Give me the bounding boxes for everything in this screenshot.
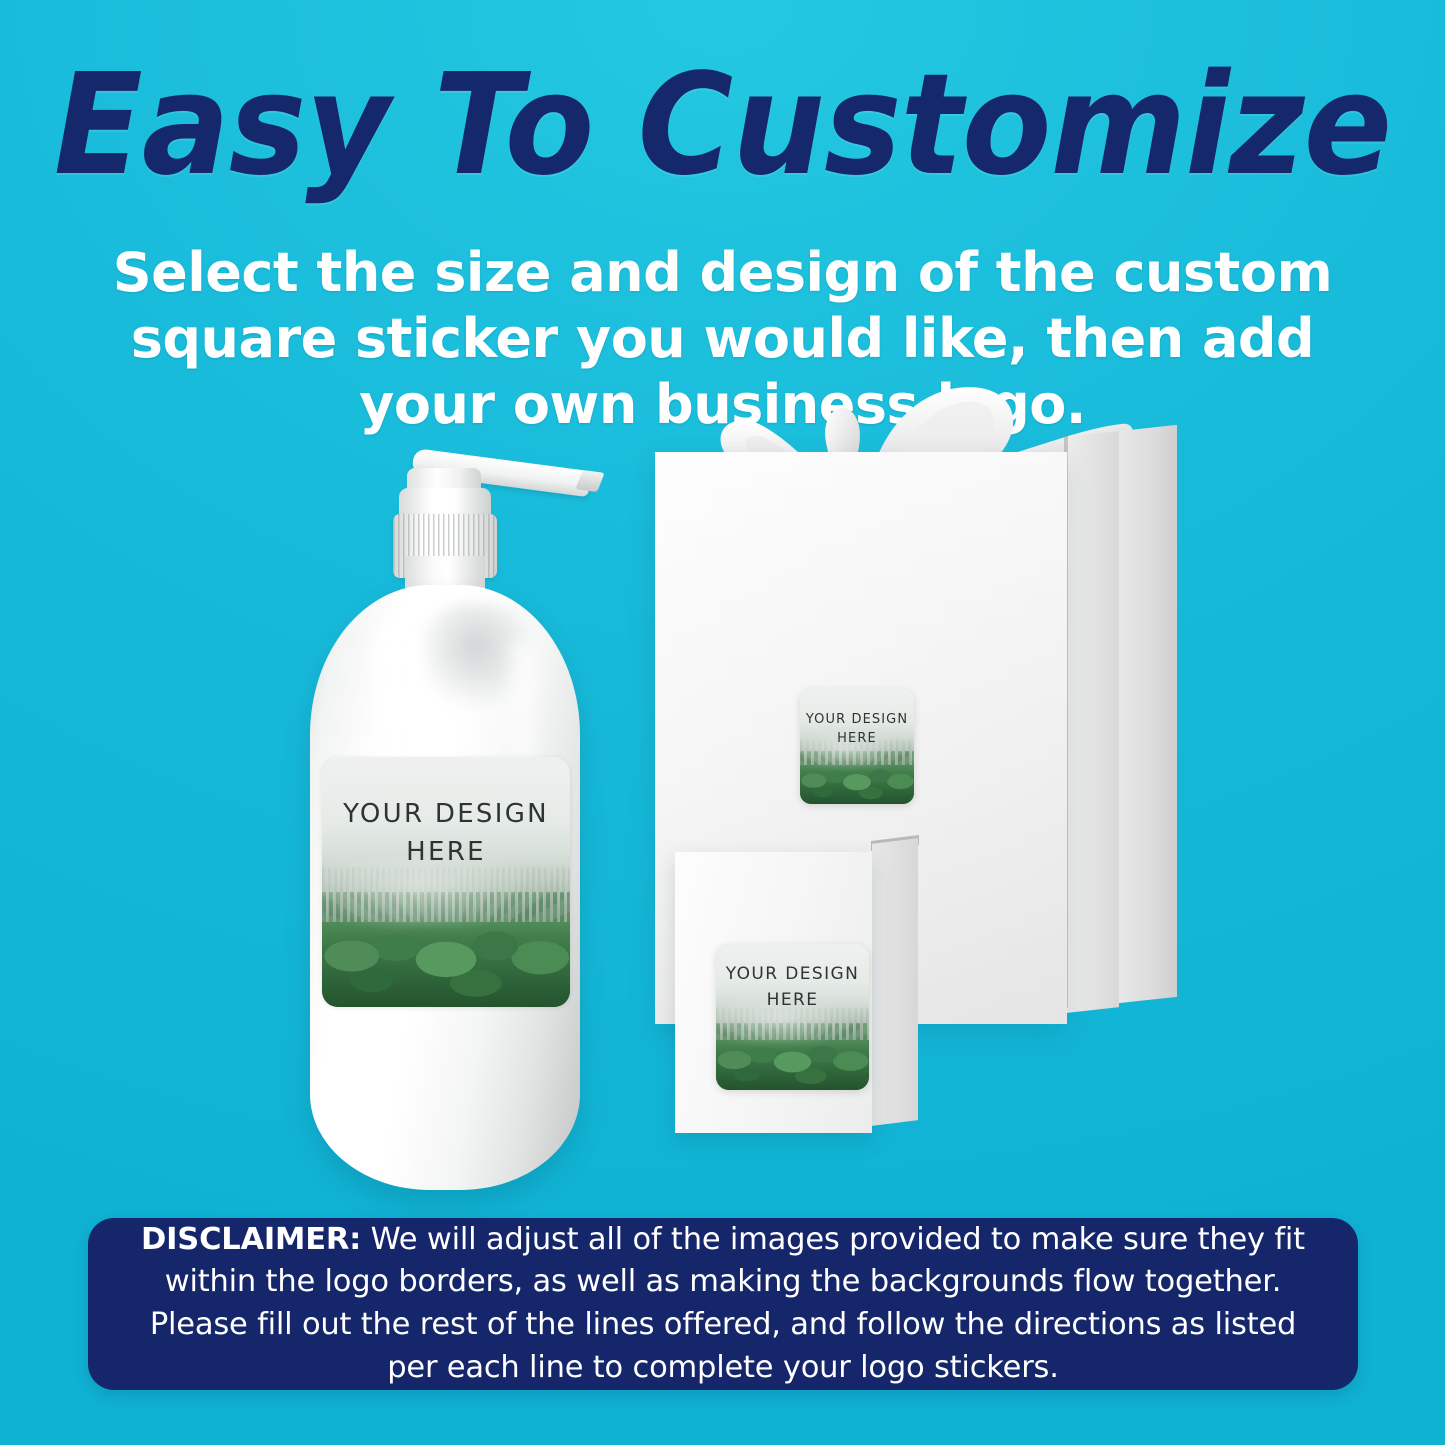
sticker-caption-line1: YOUR DESIGN xyxy=(322,795,570,833)
small-square-sticker[interactable]: YOUR DESIGN HERE xyxy=(800,689,914,804)
pump-bottle-mockup: YOUR DESIGN HERE xyxy=(295,430,595,1190)
sticker-caption: YOUR DESIGN HERE xyxy=(800,711,914,749)
sticker-caption-line2: HERE xyxy=(800,730,914,749)
disclaimer-text: DISCLAIMER: We will adjust all of the im… xyxy=(121,1219,1326,1390)
sticker-caption: YOUR DESIGN HERE xyxy=(322,795,570,872)
sticker-caption: YOUR DESIGN HERE xyxy=(716,962,869,1013)
promo-poster: Easy To Customize Select the size and de… xyxy=(0,0,1445,1445)
disclaimer-banner: DISCLAIMER: We will adjust all of the im… xyxy=(88,1218,1358,1390)
gift-box-side xyxy=(1067,431,1119,1013)
gift-box-lid-right xyxy=(1119,425,1177,1003)
medium-square-sticker[interactable]: YOUR DESIGN HERE xyxy=(716,944,869,1090)
sticker-caption-line1: YOUR DESIGN xyxy=(716,962,869,988)
sticker-caption-line1: YOUR DESIGN xyxy=(800,711,914,730)
sticker-caption-line2: HERE xyxy=(716,988,869,1014)
product-box-side xyxy=(872,838,918,1126)
large-square-sticker[interactable]: YOUR DESIGN HERE xyxy=(322,757,570,1007)
sticker-caption-line2: HERE xyxy=(322,833,570,871)
disclaimer-label: DISCLAIMER: xyxy=(141,1222,361,1257)
